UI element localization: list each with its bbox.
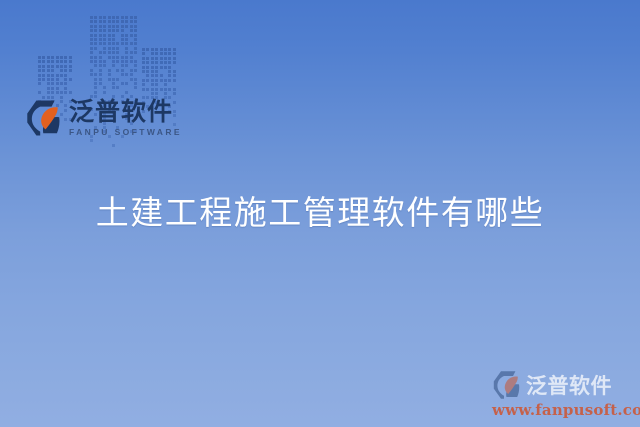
brand-name-en: FANPU SOFTWARE	[69, 128, 182, 137]
watermark: 泛普软件 www.fanpusoft.com	[492, 370, 632, 419]
watermark-brand-name: 泛普软件	[526, 370, 612, 400]
brand-name-cn: 泛普软件	[69, 99, 182, 124]
watermark-url: www.fanpusoft.com	[492, 401, 632, 419]
page-title: 土建工程施工管理软件有哪些	[0, 186, 640, 234]
watermark-logo-row: 泛普软件	[492, 370, 632, 400]
fanpu-swoosh-logo-icon	[25, 99, 63, 137]
promo-banner: 泛普软件 FANPU SOFTWARE 土建工程施工管理软件有哪些 泛普软件 w…	[0, 0, 640, 427]
fanpu-swoosh-logo-icon	[492, 370, 522, 400]
pixel-building-skyline-icon	[38, 16, 168, 108]
brand-logo: 泛普软件 FANPU SOFTWARE	[25, 99, 182, 137]
brand-logo-text: 泛普软件 FANPU SOFTWARE	[69, 99, 182, 137]
